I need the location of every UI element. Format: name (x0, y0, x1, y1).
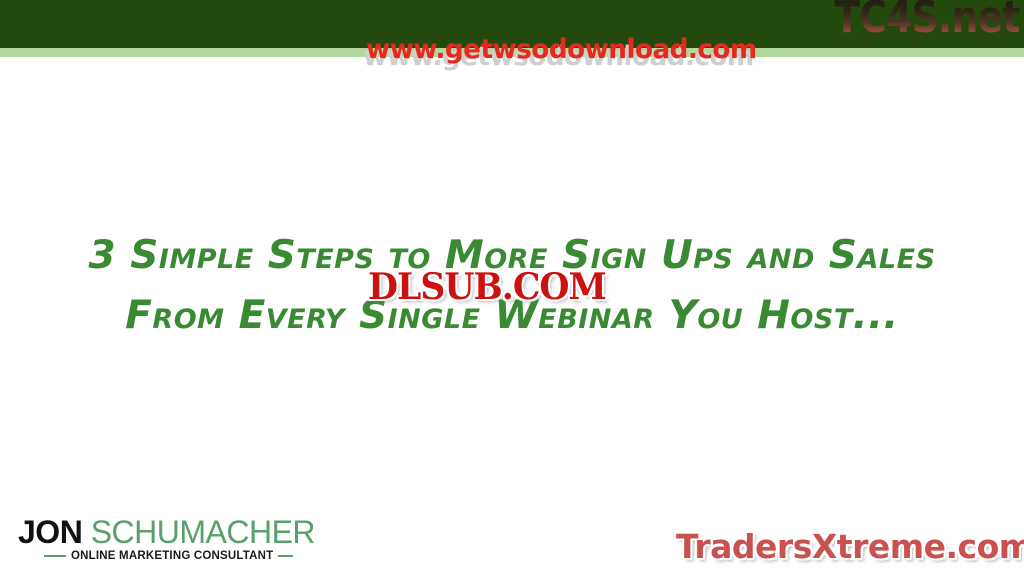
tagline-rule-left (44, 555, 66, 557)
getwsodownload-watermark: www.getwsodownload.com (366, 34, 757, 65)
slide-canvas: TC4S.net www.getwsodownload.com www.getw… (0, 0, 1024, 576)
presenter-logo: JON SCHUMACHER ONLINE MARKETING CONSULTA… (18, 515, 293, 562)
tc4s-brand-logo: TC4S.net (835, 0, 1020, 40)
dlsub-watermark: DLSUB.COM (368, 266, 606, 308)
tradersxtreme-watermark: TradersXtreme.com (676, 527, 1024, 566)
presenter-logo-tagline-row: ONLINE MARKETING CONSULTANT (18, 550, 293, 562)
presenter-logo-name: JON SCHUMACHER (18, 515, 293, 549)
presenter-first-name: JON (18, 514, 82, 550)
presenter-tagline: ONLINE MARKETING CONSULTANT (66, 550, 278, 562)
tagline-rule-right (278, 555, 293, 557)
presenter-last-name: SCHUMACHER (91, 514, 315, 550)
